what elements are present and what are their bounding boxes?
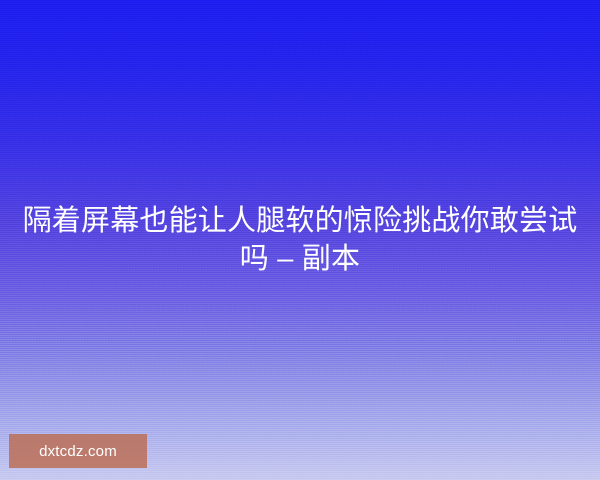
poster-title-text: 隔着屏幕也能让人腿软的惊险挑战你敢尝试吗 – 副本	[23, 205, 578, 275]
title-block: 隔着屏幕也能让人腿软的惊险挑战你敢尝试吗 – 副本	[0, 0, 600, 480]
poster-image: 隔着屏幕也能让人腿软的惊险挑战你敢尝试吗 – 副本 dxtcdz.com	[0, 0, 600, 480]
poster-title: 隔着屏幕也能让人腿软的惊险挑战你敢尝试吗 – 副本	[22, 202, 578, 278]
watermark-label: dxtcdz.com	[39, 444, 117, 459]
watermark-badge: dxtcdz.com	[9, 434, 147, 468]
